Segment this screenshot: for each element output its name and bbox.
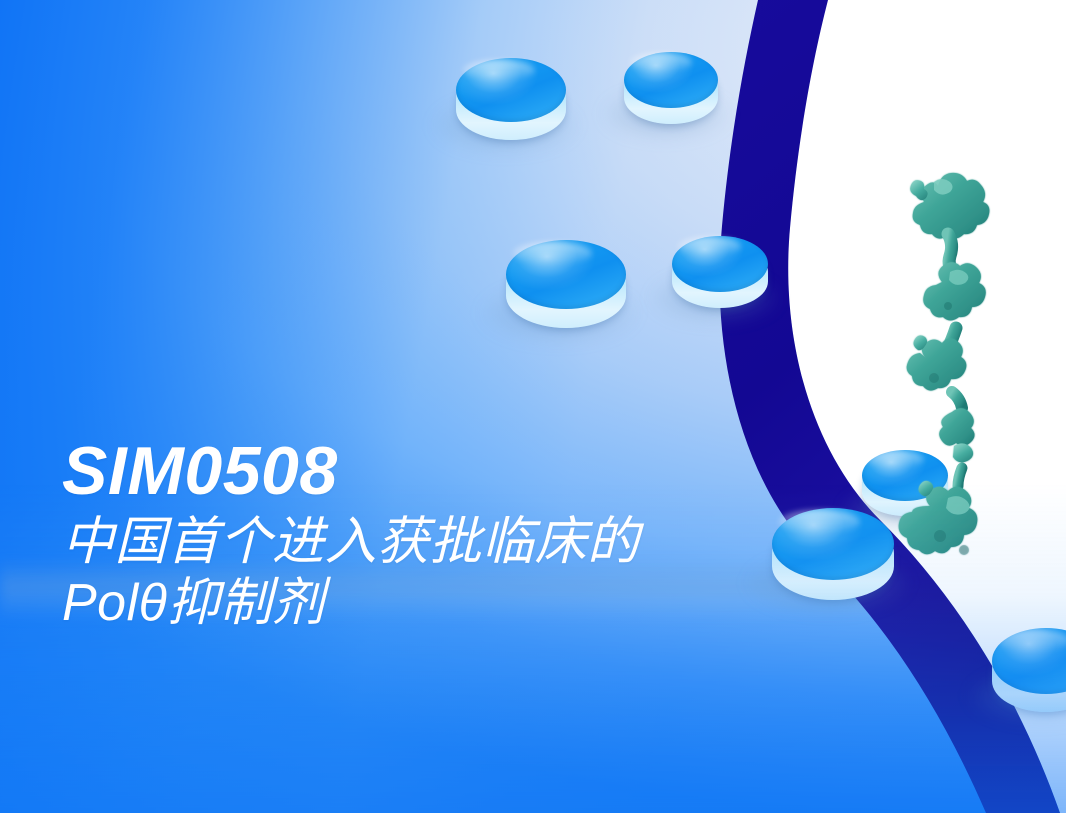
- tablet-3: [506, 240, 626, 328]
- promo-poster: SIM0508 中国首个进入获批临床的 Polθ抑制剂: [0, 0, 1066, 813]
- tablet-4: [672, 236, 768, 308]
- headline-block: SIM0508 中国首个进入获批临床的 Polθ抑制剂: [62, 437, 842, 633]
- tablet-1: [456, 58, 566, 140]
- subtitle-line-2: Polθ抑制剂: [62, 573, 842, 633]
- page-subtitle: 中国首个进入获批临床的 Polθ抑制剂: [62, 512, 842, 633]
- tablet-highlight: [463, 60, 536, 81]
- tablet-2: [624, 52, 718, 124]
- subtitle-line-1: 中国首个进入获批临床的: [62, 512, 842, 572]
- tablet-highlight: [630, 53, 692, 72]
- page-title: SIM0508: [62, 437, 842, 506]
- tablet-highlight: [513, 242, 592, 265]
